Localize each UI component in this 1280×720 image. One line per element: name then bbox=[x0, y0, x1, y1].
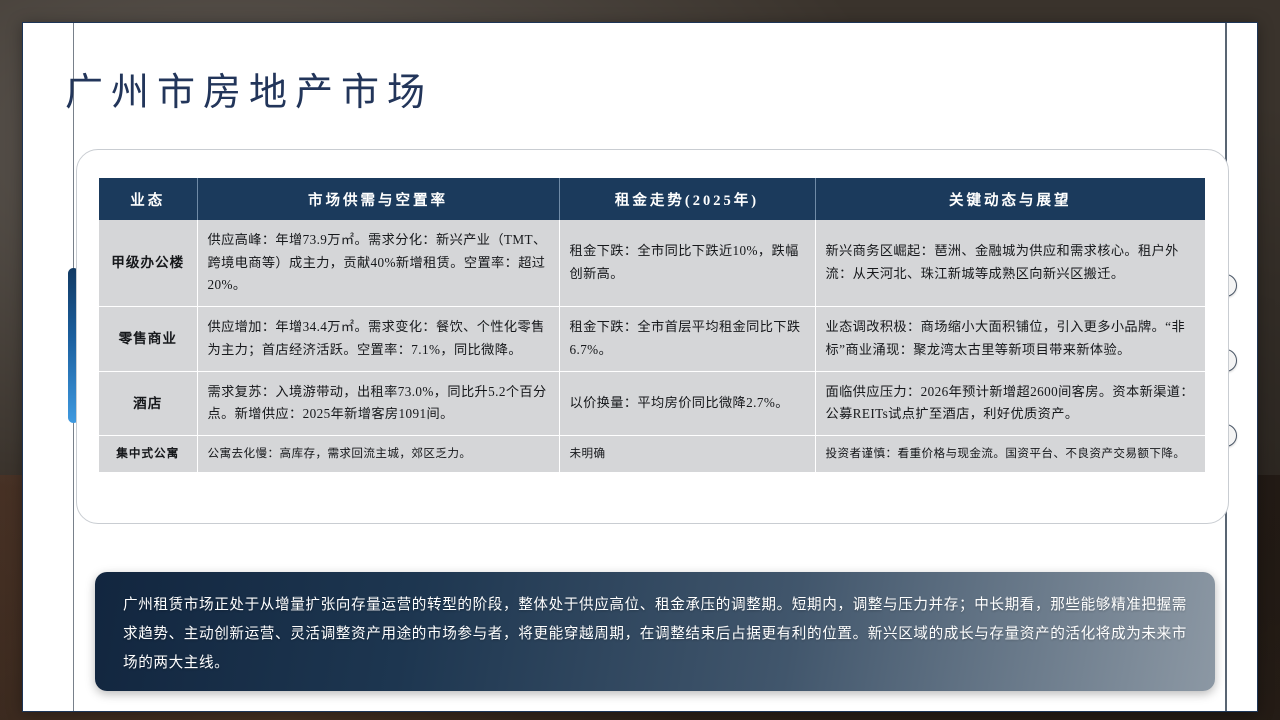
slide-card: 广州市房地产市场 业态 市场供需与空置率 租金走势(2025年) 关键动态与展望 bbox=[22, 22, 1258, 712]
cell-rent: 未明确 bbox=[559, 435, 815, 471]
cell-outlook: 业态调改积极：商场缩小大面积铺位，引入更多小品牌。“非标”商业涌现：聚龙湾太古里… bbox=[815, 307, 1205, 371]
table-header-row: 业态 市场供需与空置率 租金走势(2025年) 关键动态与展望 bbox=[99, 178, 1205, 220]
summary-text: 广州租赁市场正处于从增量扩张向存量运营的转型的阶段，整体处于供应高位、租金承压的… bbox=[123, 591, 1187, 679]
column-header-segment: 业态 bbox=[99, 178, 197, 220]
cell-outlook: 面临供应压力：2026年预计新增超2600间客房。资本新渠道：公募REITs试点… bbox=[815, 371, 1205, 435]
cell-outlook: 新兴商务区崛起：琶洲、金融城为供应和需求核心。租户外流：从天河北、珠江新城等成熟… bbox=[815, 220, 1205, 307]
cell-supply: 需求复苏：入境游带动，出租率73.0%，同比升5.2个百分点。新增供应：2025… bbox=[197, 371, 559, 435]
cell-rent: 以价换量：平均房价同比微降2.7%。 bbox=[559, 371, 815, 435]
cell-outlook: 投资者谨慎：看重价格与现金流。国资平台、不良资产交易额下降。 bbox=[815, 435, 1205, 471]
market-table: 业态 市场供需与空置率 租金走势(2025年) 关键动态与展望 甲级办公楼 供应… bbox=[99, 178, 1205, 472]
cell-rent: 租金下跌：全市同比下跌近10%，跌幅创新高。 bbox=[559, 220, 815, 307]
page-title: 广州市房地产市场 bbox=[65, 61, 433, 116]
table-row: 集中式公寓 公寓去化慢：高库存，需求回流主城，郊区乏力。 未明确 投资者谨慎：看… bbox=[99, 435, 1205, 471]
column-header-supply: 市场供需与空置率 bbox=[197, 178, 559, 220]
summary-callout: 广州租赁市场正处于从增量扩张向存量运营的转型的阶段，整体处于供应高位、租金承压的… bbox=[95, 572, 1215, 691]
cell-rent: 租金下跌：全市首层平均租金同比下跌6.7%。 bbox=[559, 307, 815, 371]
table-row: 零售商业 供应增加：年增34.4万㎡。需求变化：餐饮、个性化零售为主力；首店经济… bbox=[99, 307, 1205, 371]
table-container: 业态 市场供需与空置率 租金走势(2025年) 关键动态与展望 甲级办公楼 供应… bbox=[76, 149, 1229, 524]
cell-supply: 公寓去化慢：高库存，需求回流主城，郊区乏力。 bbox=[197, 435, 559, 471]
cell-supply: 供应高峰：年增73.9万㎡。需求分化：新兴产业（TMT、跨境电商等）成主力，贡献… bbox=[197, 220, 559, 307]
cell-segment: 零售商业 bbox=[99, 307, 197, 371]
column-header-rent: 租金走势(2025年) bbox=[559, 178, 815, 220]
cell-segment: 集中式公寓 bbox=[99, 435, 197, 471]
table-row: 酒店 需求复苏：入境游带动，出租率73.0%，同比升5.2个百分点。新增供应：2… bbox=[99, 371, 1205, 435]
cell-supply: 供应增加：年增34.4万㎡。需求变化：餐饮、个性化零售为主力；首店经济活跃。空置… bbox=[197, 307, 559, 371]
cell-segment: 酒店 bbox=[99, 371, 197, 435]
table-row: 甲级办公楼 供应高峰：年增73.9万㎡。需求分化：新兴产业（TMT、跨境电商等）… bbox=[99, 220, 1205, 307]
column-header-outlook: 关键动态与展望 bbox=[815, 178, 1205, 220]
cell-segment: 甲级办公楼 bbox=[99, 220, 197, 307]
